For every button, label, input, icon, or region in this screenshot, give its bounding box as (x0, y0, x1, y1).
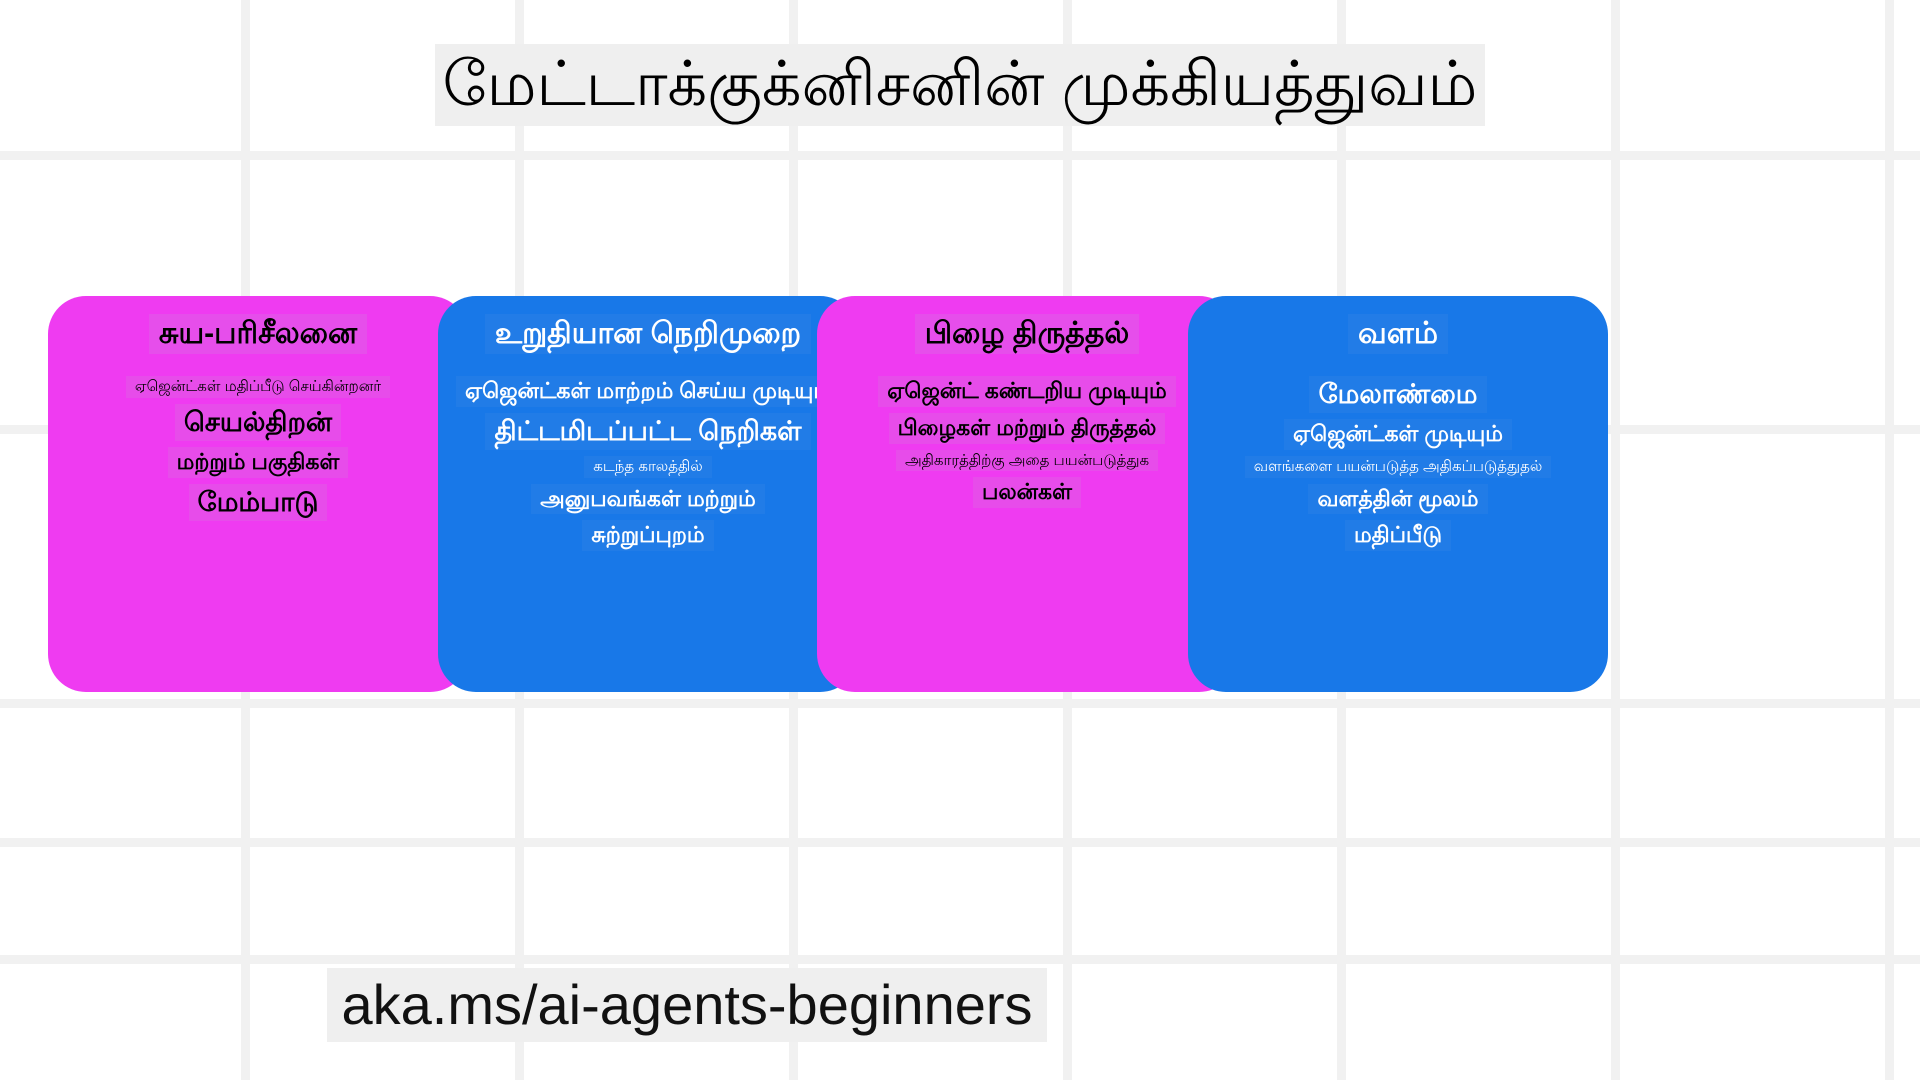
card-body-line: பிழைகள் மற்றும் திருத்தல் (889, 413, 1166, 444)
grid-line-horizontal (0, 151, 1920, 160)
card-body-line: கடந்த காலத்தில் (584, 456, 712, 478)
footer-url-text[interactable]: aka.ms/ai-agents-beginners (327, 968, 1046, 1042)
card-body-line: அதிகாரத்திற்கு அதை பயன்படுத்துக (896, 450, 1158, 472)
card-body-line: மற்றும் பகுதிகள் (168, 447, 349, 478)
card-body-line: மதிப்பீடு (1345, 520, 1451, 551)
footer-url[interactable]: aka.ms/ai-agents-beginners (74, 968, 1300, 1042)
card-1[interactable]: சுய-பரிசீலனைஏஜென்ட்கள் மதிப்பீடு செய்கின… (48, 296, 468, 692)
card-title: சுய-பரிசீலனை (149, 314, 367, 354)
grid-line-horizontal (0, 955, 1920, 964)
card-title: உறுதியான நெறிமுறை (485, 314, 811, 354)
page-title-text: மேட்டாக்குக்னிசனின் முக்கியத்துவம் (435, 44, 1486, 126)
card-3[interactable]: பிழை திருத்தல்ஏஜென்ட் கண்டறிய முடியும்பி… (817, 296, 1237, 692)
card-title: பிழை திருத்தல் (915, 314, 1140, 354)
card-body-line: மேலாண்மை (1309, 376, 1486, 413)
card-body: ஏஜென்ட்கள் மதிப்பீடு செய்கின்றனர்செயல்தி… (58, 376, 458, 520)
card-body-line: சுற்றுப்புறம் (582, 520, 713, 551)
card-body-line: செயல்திறன் (175, 404, 341, 441)
card-body-line: ஏஜென்ட்கள் மதிப்பீடு செய்கின்றனர் (126, 376, 390, 398)
card-body-line: திட்டமிடப்பட்ட நெறிகள் (485, 413, 810, 450)
card-body: மேலாண்மைஏஜென்ட்கள் முடியும்வளங்களை பயன்ப… (1198, 376, 1598, 550)
card-body-line: அனுபவங்கள் மற்றும் (531, 484, 764, 515)
card-title: வளம் (1348, 314, 1448, 354)
card-body: ஏஜென்ட் கண்டறிய முடியும்பிழைகள் மற்றும் … (827, 376, 1227, 507)
card-body-line: ஏஜென்ட் கண்டறிய முடியும் (878, 376, 1176, 407)
card-body-line: பலன்கள் (973, 477, 1081, 508)
card-body-line: வளத்தின் மூலம் (1308, 484, 1487, 515)
card-4[interactable]: வளம்மேலாண்மைஏஜென்ட்கள் முடியும்வளங்களை ப… (1188, 296, 1608, 692)
card-body: ஏஜென்ட்கள் மாற்றம் செய்ய முடியும்திட்டமி… (448, 376, 848, 550)
grid-line-horizontal (0, 838, 1920, 847)
grid-line-horizontal (0, 699, 1920, 708)
card-body-line: ஏஜென்ட்கள் மாற்றம் செய்ய முடியும் (456, 376, 840, 407)
card-body-line: ஏஜென்ட்கள் முடியும் (1284, 419, 1512, 450)
slide-canvas: மேட்டாக்குக்னிசனின் முக்கியத்துவம் சுய-ப… (0, 0, 1920, 1080)
card-body-line: மேம்பாடு (189, 484, 328, 521)
card-body-line: வளங்களை பயன்படுத்த அதிகப்படுத்துதல் (1245, 456, 1552, 478)
page-title: மேட்டாக்குக்னிசனின் முக்கியத்துவம் (236, 44, 1684, 126)
card-2[interactable]: உறுதியான நெறிமுறைஏஜென்ட்கள் மாற்றம் செய்… (438, 296, 858, 692)
card-row: சுய-பரிசீலனைஏஜென்ட்கள் மதிப்பீடு செய்கின… (0, 296, 1920, 696)
